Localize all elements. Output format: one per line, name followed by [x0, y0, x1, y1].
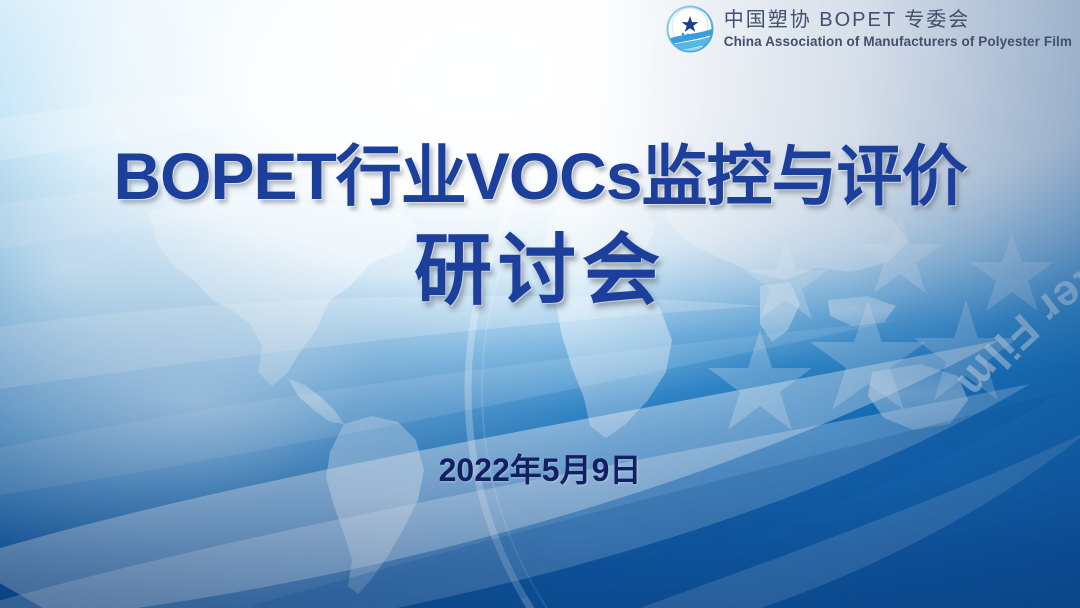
association-name-cn: 中国塑协 BOPET 专委会: [724, 9, 1072, 33]
slide-title-line-1: BOPET行业VOCs监控与评价: [0, 140, 1080, 214]
association-name-en: China Association of Manufacturers of Po…: [724, 34, 1072, 50]
bopet-association-logo-icon: [665, 4, 715, 54]
presentation-title-slide: Polyester Film: [0, 0, 1080, 608]
association-header: 中国塑协 BOPET 专委会 China Association of Manu…: [665, 4, 1072, 54]
slide-title-line-2: 研讨会: [0, 228, 1080, 314]
association-header-text: 中国塑协 BOPET 专委会 China Association of Manu…: [724, 9, 1072, 49]
slide-title-block: BOPET行业VOCs监控与评价 研讨会: [0, 140, 1080, 314]
slide-date: 2022年5月9日: [0, 445, 1080, 491]
